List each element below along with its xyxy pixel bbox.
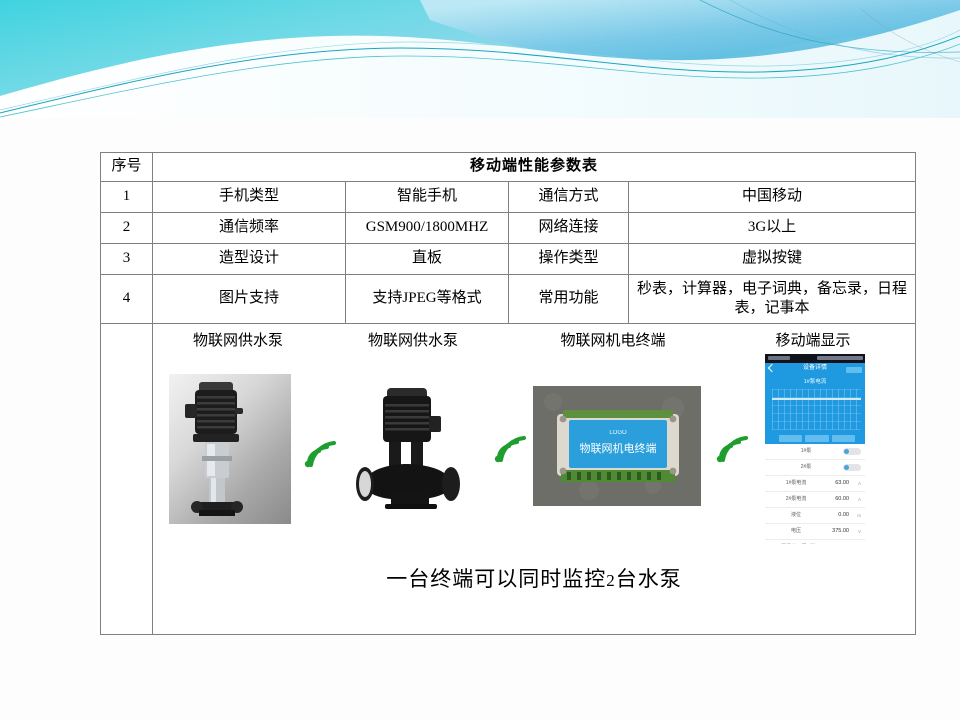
phone-chart-series — [772, 398, 861, 400]
list-item[interactable]: 2#泵 — [765, 460, 865, 476]
row-key-2: 常用功能 — [509, 275, 629, 324]
slide-canvas: 序号 移动端性能参数表 1 手机类型 智能手机 通信方式 中国移动 2 通信频率… — [0, 0, 960, 720]
list-item-unit: V — [849, 529, 861, 535]
phone-status-bar — [765, 354, 865, 363]
diagram-index-cell — [101, 324, 153, 635]
row-key-1: 通信频率 — [153, 213, 346, 244]
header-wave-decoration — [0, 0, 960, 118]
status-icons — [817, 356, 863, 360]
svg-text:LOGO: LOGO — [609, 430, 627, 436]
caption-text: 一台终端可以同时监控 — [386, 567, 606, 591]
list-item[interactable]: 液位 0.00 m — [765, 508, 865, 524]
device-label-pump-2: 物联网供水泵 — [338, 332, 488, 351]
range-button[interactable] — [832, 435, 855, 442]
list-item-label: 1#泵 — [769, 448, 843, 454]
row-key-1: 图片支持 — [153, 275, 346, 324]
row-key-1: 手机类型 — [153, 182, 346, 213]
row-value-1: GSM900/1800MHZ — [346, 213, 509, 244]
range-button[interactable] — [779, 435, 802, 442]
toggle-switch[interactable] — [843, 448, 861, 455]
terminal-sticker-text: 物联网机电终端 — [580, 441, 657, 455]
table-row: 2 通信频率 GSM900/1800MHZ 网络连接 3G以上 — [101, 213, 916, 244]
list-item[interactable]: 1#泵累计运行时数 4.00 H — [765, 540, 865, 544]
table-header-row: 序号 移动端性能参数表 — [101, 153, 916, 182]
phone-nav-bar: 设备详情 — [765, 363, 865, 376]
list-item-label: 2#泵电流 — [769, 496, 823, 502]
wifi-signal-icon — [303, 439, 337, 469]
range-button[interactable] — [805, 435, 828, 442]
row-value-2: 秒表，计算器，电子词典，备忘录，日程表，记事本 — [629, 275, 916, 324]
row-key-1: 造型设计 — [153, 244, 346, 275]
phone-chart-range-buttons[interactable] — [779, 435, 855, 442]
list-item-label: 液位 — [769, 512, 823, 518]
row-value-2: 中国移动 — [629, 182, 916, 213]
phone-nav-action[interactable] — [846, 367, 862, 373]
list-item-value: 375.00 — [823, 528, 849, 535]
list-item-label: 1#泵电流 — [769, 480, 823, 486]
toggle-switch[interactable] — [843, 464, 861, 471]
row-value-1: 直板 — [346, 244, 509, 275]
index-header: 序号 — [101, 153, 153, 182]
row-value-2: 3G以上 — [629, 213, 916, 244]
row-value-2: 虚拟按键 — [629, 244, 916, 275]
row-index: 2 — [101, 213, 153, 244]
photo-inline-pump — [345, 374, 477, 524]
photo-vertical-pump — [169, 374, 291, 524]
row-value-1: 支持JPEG等格式 — [346, 275, 509, 324]
photo-mobile-screenshot: 设备详情 1#泵电流 — [765, 354, 865, 544]
wifi-signal-icon — [493, 434, 527, 464]
row-index: 4 — [101, 275, 153, 324]
row-value-1: 智能手机 — [346, 182, 509, 213]
table-row: 3 造型设计 直板 操作类型 虚拟按键 — [101, 244, 916, 275]
iot-diagram: 物联网供水泵 物联网供水泵 物联网机电终端 移动端显示 — [153, 324, 915, 634]
phone-param-list: 1#泵 2#泵 1#泵电流 63.00 A — [765, 444, 865, 544]
list-item-label: 2#泵 — [769, 464, 843, 470]
row-key-2: 通信方式 — [509, 182, 629, 213]
list-item[interactable]: 电压 375.00 V — [765, 524, 865, 540]
row-index: 3 — [101, 244, 153, 275]
device-label-mobile: 移动端显示 — [738, 332, 888, 351]
caption-tail: 台水泵 — [616, 567, 682, 591]
phone-chart-title: 1#泵电流 — [765, 379, 865, 386]
list-item[interactable]: 1#泵 — [765, 444, 865, 460]
phone-chart-grid — [772, 389, 861, 430]
row-key-2: 网络连接 — [509, 213, 629, 244]
table-row: 4 图片支持 支持JPEG等格式 常用功能 秒表，计算器，电子词典，备忘录，日程… — [101, 275, 916, 324]
phone-chart-panel: 1#泵电流 — [765, 376, 865, 444]
list-item-value: 0.00 — [823, 512, 849, 519]
list-item-unit: A — [849, 497, 861, 503]
device-label-terminal: 物联网机电终端 — [528, 332, 698, 351]
caption-number: 2 — [606, 571, 616, 590]
list-item-value: 63.00 — [823, 480, 849, 487]
table-row: 1 手机类型 智能手机 通信方式 中国移动 — [101, 182, 916, 213]
photo-iot-terminal: LOGO 物联网机电终端 — [533, 386, 701, 506]
mobile-spec-table: 序号 移动端性能参数表 1 手机类型 智能手机 通信方式 中国移动 2 通信频率… — [100, 152, 916, 635]
diagram-row: 物联网供水泵 物联网供水泵 物联网机电终端 移动端显示 — [101, 324, 916, 635]
row-index: 1 — [101, 182, 153, 213]
list-item-unit: m — [849, 513, 861, 519]
list-item-value: 60.00 — [823, 496, 849, 503]
list-item-unit: A — [849, 481, 861, 487]
diagram-cell: 物联网供水泵 物联网供水泵 物联网机电终端 移动端显示 — [153, 324, 916, 635]
list-item[interactable]: 2#泵电流 60.00 A — [765, 492, 865, 508]
wifi-signal-icon — [715, 434, 749, 464]
row-key-2: 操作类型 — [509, 244, 629, 275]
table-title: 移动端性能参数表 — [153, 153, 916, 182]
list-item[interactable]: 1#泵电流 63.00 A — [765, 476, 865, 492]
carrier-text — [768, 356, 790, 360]
diagram-caption: 一台终端可以同时监控2台水泵 — [153, 566, 915, 593]
device-label-pump-1: 物联网供水泵 — [163, 332, 313, 351]
list-item-label: 电压 — [769, 528, 823, 534]
